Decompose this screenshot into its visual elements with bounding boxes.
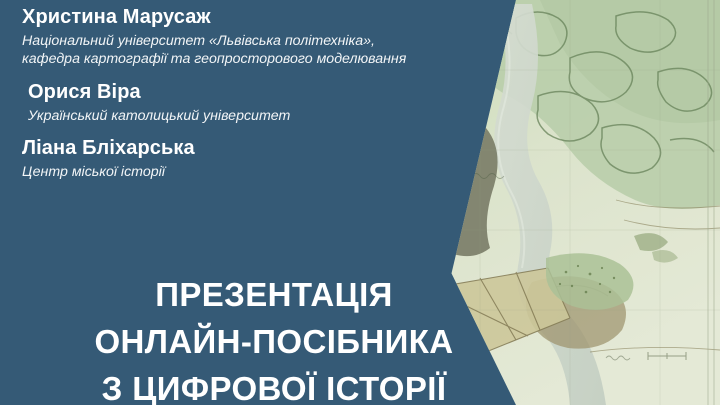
title-line-3: З ЦИФРОВОЇ ІСТОРІЇ [0,366,548,405]
author-name-3: Ліана Бліхарська [22,137,537,161]
author-list: Христина Марусаж Національний університе… [22,6,537,194]
author-block-3: Ліана Бліхарська Центр міської історії [22,137,537,181]
author-affiliation-1-line-2: кафедра картографії та геопросторового м… [22,50,537,69]
page-title: ПРЕЗЕНТАЦІЯ ОНЛАЙН-ПОСІБНИКА З ЦИФРОВОЇ … [0,272,548,405]
author-block-1: Христина Марусаж Національний університе… [22,6,537,69]
author-name-2: Орися Віра [28,81,537,105]
author-affiliation-1-line-1: Національний університет «Львівська полі… [22,32,537,51]
presentation-slide: Христина Марусаж Національний університе… [0,0,720,405]
author-affiliation-3-line-1: Центр міської історії [22,163,537,182]
author-block-2: Орися Віра Український католицький уніве… [28,81,537,125]
author-affiliation-2-line-1: Український католицький університет [28,107,537,126]
title-line-1: ПРЕЗЕНТАЦІЯ [0,272,548,319]
author-name-1: Христина Марусаж [22,6,537,30]
title-line-2: ОНЛАЙН-ПОСІБНИКА [0,319,548,366]
